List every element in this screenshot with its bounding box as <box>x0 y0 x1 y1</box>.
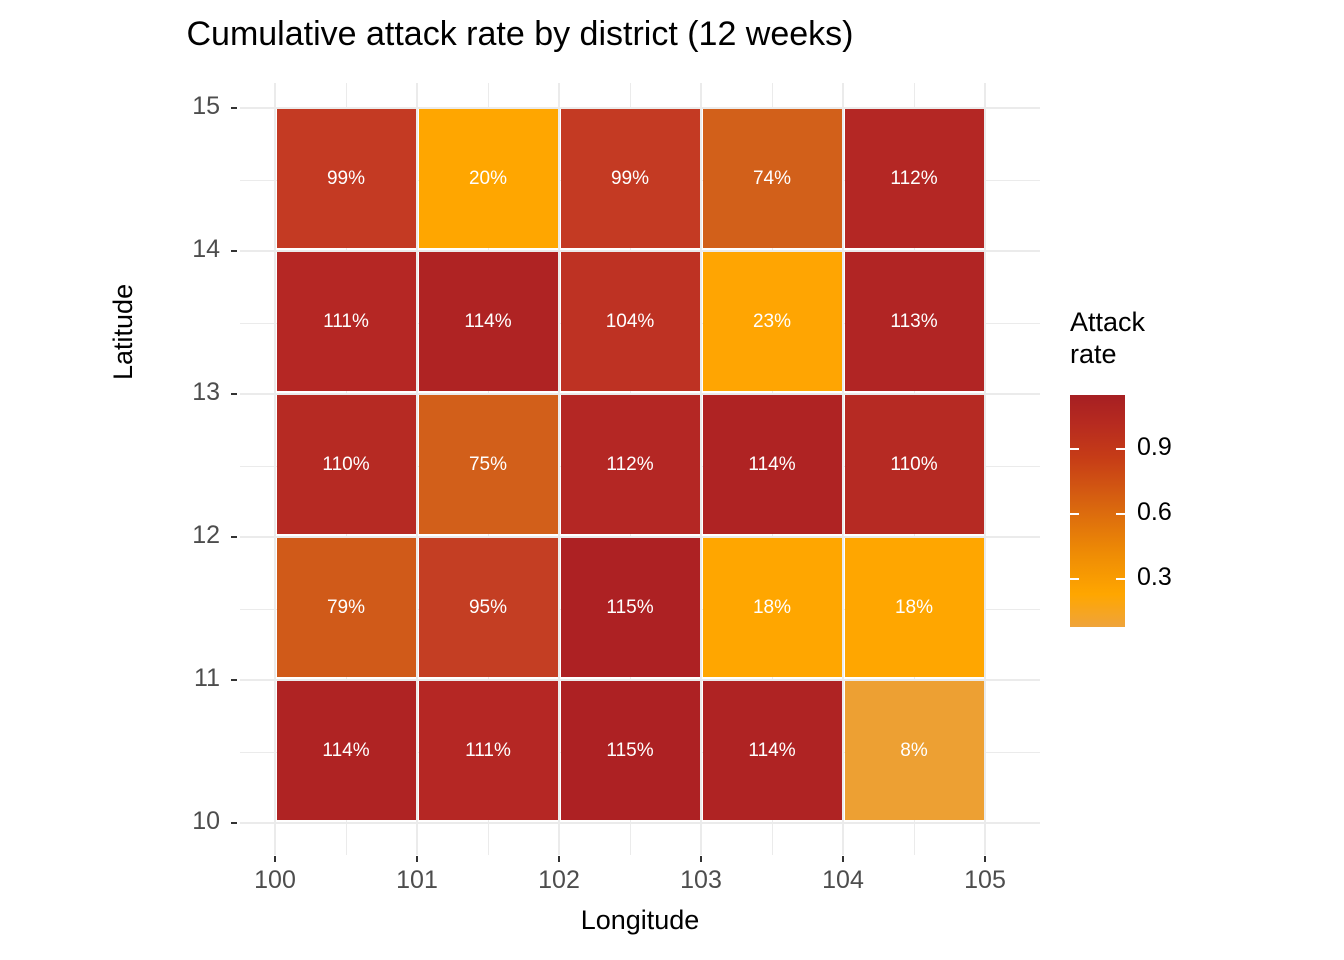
y-axis-title: Latitude <box>108 284 139 380</box>
x-axis-tick-label: 100 <box>235 866 315 895</box>
heatmap-cell-label: 114% <box>748 740 795 762</box>
legend-tick-mark <box>1070 448 1079 450</box>
heatmap-cell-label: 74% <box>753 168 791 190</box>
heatmap-cell-label: 110% <box>322 454 369 476</box>
x-axis-tick-mark <box>274 856 276 862</box>
heatmap-cell-label: 114% <box>748 454 795 476</box>
y-axis-tick-label: 12 <box>160 521 220 550</box>
x-axis-tick-label: 105 <box>945 866 1025 895</box>
legend-tick-mark <box>1116 448 1125 450</box>
heatmap-cell-label: 115% <box>606 740 653 762</box>
x-axis-tick-mark <box>984 856 986 862</box>
x-axis-tick-mark <box>558 856 560 862</box>
heatmap-cell[interactable]: 112% <box>845 109 984 248</box>
heatmap-cell-label: 79% <box>327 597 365 619</box>
heatmap-cell[interactable]: 114% <box>277 681 416 820</box>
legend-title-line-2: rate <box>1070 338 1200 370</box>
heatmap-cell[interactable]: 20% <box>419 109 558 248</box>
x-axis-tick-mark <box>700 856 702 862</box>
heatmap-cell-label: 111% <box>465 740 511 762</box>
heatmap-cell[interactable]: 104% <box>561 252 700 391</box>
legend-tick-mark <box>1116 578 1125 580</box>
heatmap-cell-label: 112% <box>890 168 937 190</box>
heatmap-cell-label: 18% <box>895 597 933 619</box>
legend-tick-label: 0.9 <box>1137 433 1172 462</box>
heatmap-cell-label: 8% <box>900 740 927 762</box>
legend-title-line-1: Attack <box>1070 306 1200 338</box>
heatmap-cell-label: 113% <box>890 311 937 333</box>
x-axis-tick-label: 102 <box>519 866 599 895</box>
y-axis-tick-label: 14 <box>160 235 220 264</box>
legend-colorbar <box>1070 395 1125 627</box>
heatmap-cell[interactable]: 110% <box>277 395 416 534</box>
heatmap-cell[interactable]: 99% <box>277 109 416 248</box>
legend-tick-mark <box>1070 513 1079 515</box>
heatmap-cell[interactable]: 18% <box>845 538 984 677</box>
heatmap-cell-label: 18% <box>753 597 791 619</box>
y-axis-tick-mark <box>231 393 237 395</box>
heatmap-cell-label: 23% <box>753 311 791 333</box>
heatmap-cell[interactable]: 112% <box>561 395 700 534</box>
heatmap-cell[interactable]: 8% <box>845 681 984 820</box>
heatmap-cell[interactable]: 111% <box>419 681 558 820</box>
heatmap-cell[interactable]: 110% <box>845 395 984 534</box>
heatmap-cell-label: 114% <box>464 311 511 333</box>
legend-tick-mark <box>1070 578 1079 580</box>
legend-tick-mark <box>1116 513 1125 515</box>
chart-title: Cumulative attack rate by district (12 w… <box>0 14 1040 54</box>
heatmap-cell[interactable]: 113% <box>845 252 984 391</box>
y-axis-tick-label: 10 <box>160 807 220 836</box>
y-axis-tick-label: 13 <box>160 378 220 407</box>
x-axis-tick-mark <box>416 856 418 862</box>
y-axis-tick-mark <box>231 822 237 824</box>
chart-root: Cumulative attack rate by district (12 w… <box>0 0 1344 960</box>
heatmap-row: 114%111%115%114%8% <box>275 680 985 823</box>
heatmap-cell[interactable]: 115% <box>561 681 700 820</box>
heatmap-cell-label: 112% <box>606 454 653 476</box>
heatmap-cell[interactable]: 114% <box>703 395 842 534</box>
heatmap-cell-label: 111% <box>323 311 369 333</box>
y-axis-tick-label: 15 <box>160 92 220 121</box>
heatmap-cell-label: 114% <box>322 740 369 762</box>
heatmap-cell[interactable]: 79% <box>277 538 416 677</box>
y-axis-tick-mark <box>231 679 237 681</box>
x-axis-tick-label: 101 <box>377 866 457 895</box>
legend-tick-label: 0.6 <box>1137 498 1172 527</box>
heatmap-cell-label: 115% <box>606 597 653 619</box>
heatmap-cell-label: 95% <box>469 597 507 619</box>
heatmap-cell[interactable]: 115% <box>561 538 700 677</box>
heatmap-row: 111%114%104%23%113% <box>275 251 985 394</box>
heatmap-row: 99%20%99%74%112% <box>275 108 985 251</box>
heatmap-cell-label: 20% <box>469 168 507 190</box>
heatmap-row: 110%75%112%114%110% <box>275 394 985 537</box>
legend-title: Attack rate <box>1070 306 1200 370</box>
y-axis-tick-mark <box>231 250 237 252</box>
heatmap-cell[interactable]: 111% <box>277 252 416 391</box>
x-axis-title: Longitude <box>240 905 1040 936</box>
legend-tick-label: 0.3 <box>1137 563 1172 592</box>
heatmap-cell[interactable]: 114% <box>419 252 558 391</box>
heatmap-cell-label: 75% <box>469 454 507 476</box>
heatmap-cell[interactable]: 18% <box>703 538 842 677</box>
heatmap-cell[interactable]: 75% <box>419 395 558 534</box>
x-axis-tick-mark <box>842 856 844 862</box>
heatmap-cell-label: 99% <box>611 168 649 190</box>
heatmap-tiles: 99%20%99%74%112%111%114%104%23%113%110%7… <box>275 108 985 823</box>
heatmap-cell[interactable]: 23% <box>703 252 842 391</box>
heatmap-cell-label: 99% <box>327 168 365 190</box>
heatmap-cell[interactable]: 99% <box>561 109 700 248</box>
heatmap-row: 79%95%115%18%18% <box>275 537 985 680</box>
y-axis-tick-label: 11 <box>160 664 220 693</box>
y-axis-tick-mark <box>231 107 237 109</box>
plot-panel: 99%20%99%74%112%111%114%104%23%113%110%7… <box>240 83 1040 855</box>
heatmap-cell[interactable]: 114% <box>703 681 842 820</box>
heatmap-cell[interactable]: 95% <box>419 538 558 677</box>
x-axis-tick-label: 104 <box>803 866 883 895</box>
legend: Attack rate 0.90.60.3 <box>1065 300 1265 640</box>
x-axis-tick-label: 103 <box>661 866 741 895</box>
heatmap-cell-label: 110% <box>890 454 937 476</box>
heatmap-cell-label: 104% <box>606 311 655 333</box>
heatmap-cell[interactable]: 74% <box>703 109 842 248</box>
y-axis-tick-mark <box>231 536 237 538</box>
